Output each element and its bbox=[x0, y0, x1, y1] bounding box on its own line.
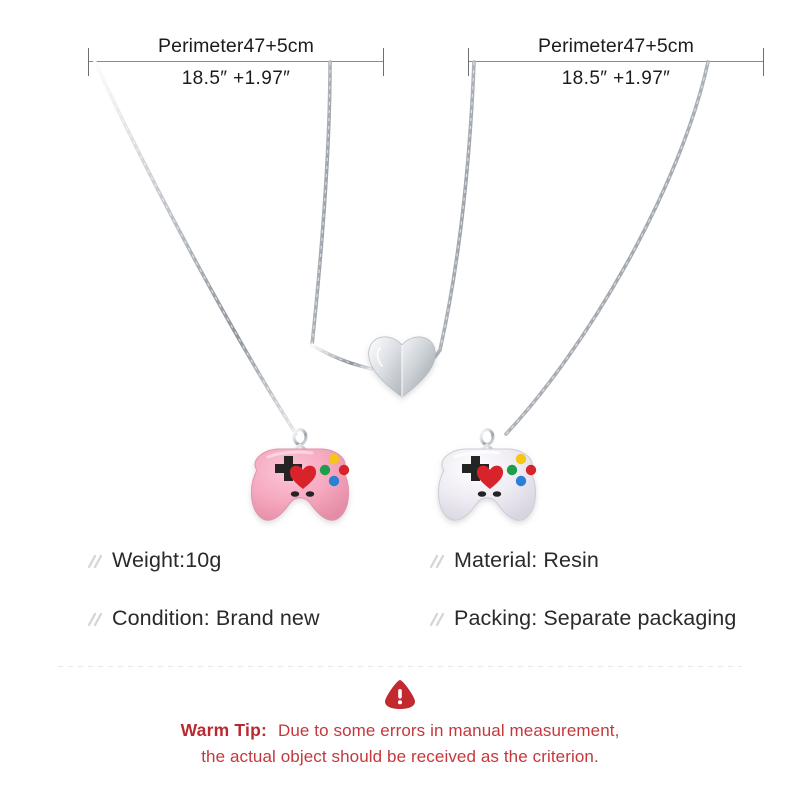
spec-weight-label: Weight:10g bbox=[112, 548, 221, 573]
warm-tip-body-2: the actual object should be received as … bbox=[201, 747, 599, 766]
necklace-product-photo bbox=[0, 0, 800, 560]
spec-material: Material: Resin bbox=[428, 548, 599, 573]
warm-tip-section: Warm Tip:Due to some errors in manual me… bbox=[0, 678, 800, 770]
magnetic-heart-clasp bbox=[369, 337, 436, 397]
chain-right bbox=[414, 62, 708, 434]
warm-tip-label: Warm Tip: bbox=[181, 720, 267, 740]
warm-tip-text: Warm Tip:Due to some errors in manual me… bbox=[0, 718, 800, 770]
spec-condition: Condition: Brand new bbox=[86, 606, 320, 631]
spec-packing: Packing: Separate packaging bbox=[428, 606, 736, 631]
warning-exclamation-icon bbox=[383, 678, 417, 710]
spec-row-1: Weight:10g Material: Resin bbox=[0, 548, 800, 606]
spec-condition-label: Condition: Brand new bbox=[112, 606, 320, 631]
spec-material-label: Material: Resin bbox=[454, 548, 599, 573]
white-game-controller-pendant bbox=[438, 430, 536, 521]
spec-packing-label: Packing: Separate packaging bbox=[454, 606, 736, 631]
spec-row-2: Condition: Brand new Packing: Separate p… bbox=[0, 606, 800, 664]
double-slash-icon bbox=[428, 612, 445, 627]
spec-list: Weight:10g Material: Resin bbox=[0, 548, 800, 664]
pink-game-controller-pendant bbox=[251, 430, 349, 521]
warm-tip-body-1: Due to some errors in manual measurement… bbox=[278, 721, 619, 740]
product-spec-image: Perimeter47+5cm 18.5″ +1.97″ Perimeter47… bbox=[0, 0, 800, 800]
spec-weight: Weight:10g bbox=[86, 548, 221, 573]
warm-tip-line-1: Warm Tip:Due to some errors in manual me… bbox=[0, 718, 800, 744]
double-slash-icon bbox=[86, 612, 103, 627]
warm-tip-line-2: the actual object should be received as … bbox=[0, 744, 800, 770]
section-divider bbox=[58, 666, 742, 667]
double-slash-icon bbox=[428, 554, 445, 569]
chain-left bbox=[95, 62, 372, 434]
double-slash-icon bbox=[86, 554, 103, 569]
